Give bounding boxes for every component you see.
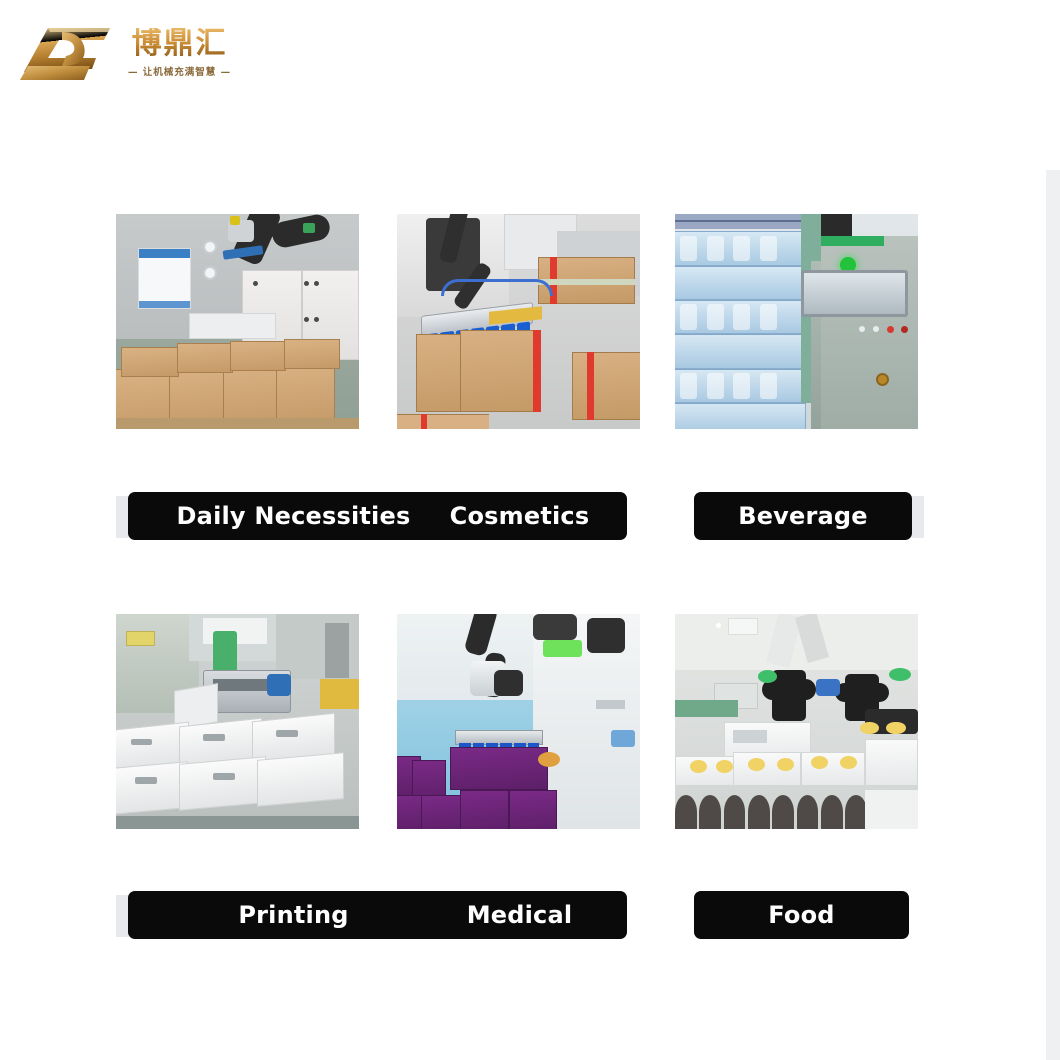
gallery-image-medical[interactable] (397, 614, 640, 829)
label-daily-necessities[interactable]: Daily Necessities (116, 492, 343, 540)
gallery-image-daily-necessities[interactable] (116, 214, 359, 429)
industry-gallery: Daily Necessities Cosmetics Beverage (0, 0, 1060, 1060)
scene-medical (397, 614, 640, 829)
scene-daily-necessities (116, 214, 359, 429)
gallery-image-beverage[interactable] (675, 214, 918, 429)
label-food-text: Food (694, 891, 909, 939)
label-side-strip (911, 496, 924, 538)
label-daily-necessities-text: Daily Necessities (128, 492, 459, 540)
label-medical[interactable]: Medical (412, 891, 627, 939)
scene-food (675, 614, 918, 829)
scene-beverage (675, 214, 918, 429)
label-printing[interactable]: Printing (116, 891, 343, 939)
gallery-image-food[interactable] (675, 614, 918, 829)
page-scrollbar[interactable] (1046, 170, 1060, 1060)
label-printing-text: Printing (128, 891, 459, 939)
gallery-image-cosmetics[interactable] (397, 214, 640, 429)
label-cosmetics[interactable]: Cosmetics (412, 492, 627, 540)
gallery-image-printing[interactable] (116, 614, 359, 829)
scene-cosmetics (397, 214, 640, 429)
label-beverage[interactable]: Beverage (694, 492, 924, 540)
label-food[interactable]: Food (694, 891, 909, 939)
page-root: 博鼎汇 — 让机械充满智慧 — (0, 0, 1060, 1060)
label-medical-text: Medical (412, 891, 627, 939)
scene-printing (116, 614, 359, 829)
label-beverage-text: Beverage (694, 492, 912, 540)
label-cosmetics-text: Cosmetics (412, 492, 627, 540)
